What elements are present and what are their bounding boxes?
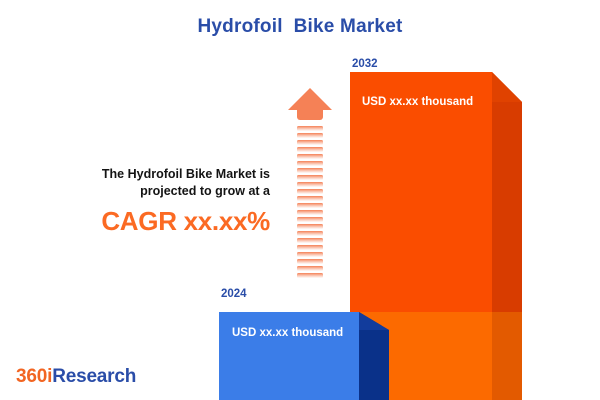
bar-2032-side-upper [492,72,522,312]
page-title: Hydrofoil Bike Market [0,16,600,38]
growth-statement: The Hydrofoil Bike Market is projected t… [55,166,270,236]
bar-value-2024: USD xx.xx thousand [232,327,343,339]
brand-logo[interactable]: 360iResearch [16,366,136,388]
cagr-value: CAGR xx.xx% [55,206,270,236]
bar-label-2032: 2032 [352,58,378,70]
bar-2032-front-upper [350,72,492,312]
bar-value-2032: USD xx.xx thousand [362,96,473,108]
arrow-neck [297,110,323,120]
bar-2032-top-bevel [492,72,522,102]
bar-label-2024: 2024 [221,288,247,300]
bar-2024[interactable] [219,312,389,400]
statement-line-1: The Hydrofoil Bike Market is [55,166,270,183]
bar-2024-top-bevel [359,312,389,330]
growth-arrow-icon [286,86,334,284]
statement-line-2: projected to grow at a [55,183,270,200]
bar-2024-front [219,312,359,400]
arrow-shaft-segments [297,126,323,278]
bar-2032-side-lower [492,312,522,400]
infographic-canvas: Hydrofoil Bike Market 2032 USD xx.xx tho… [0,0,600,400]
logo-text-blue: Research [52,366,136,387]
logo-text-orange: 360i [16,366,52,387]
